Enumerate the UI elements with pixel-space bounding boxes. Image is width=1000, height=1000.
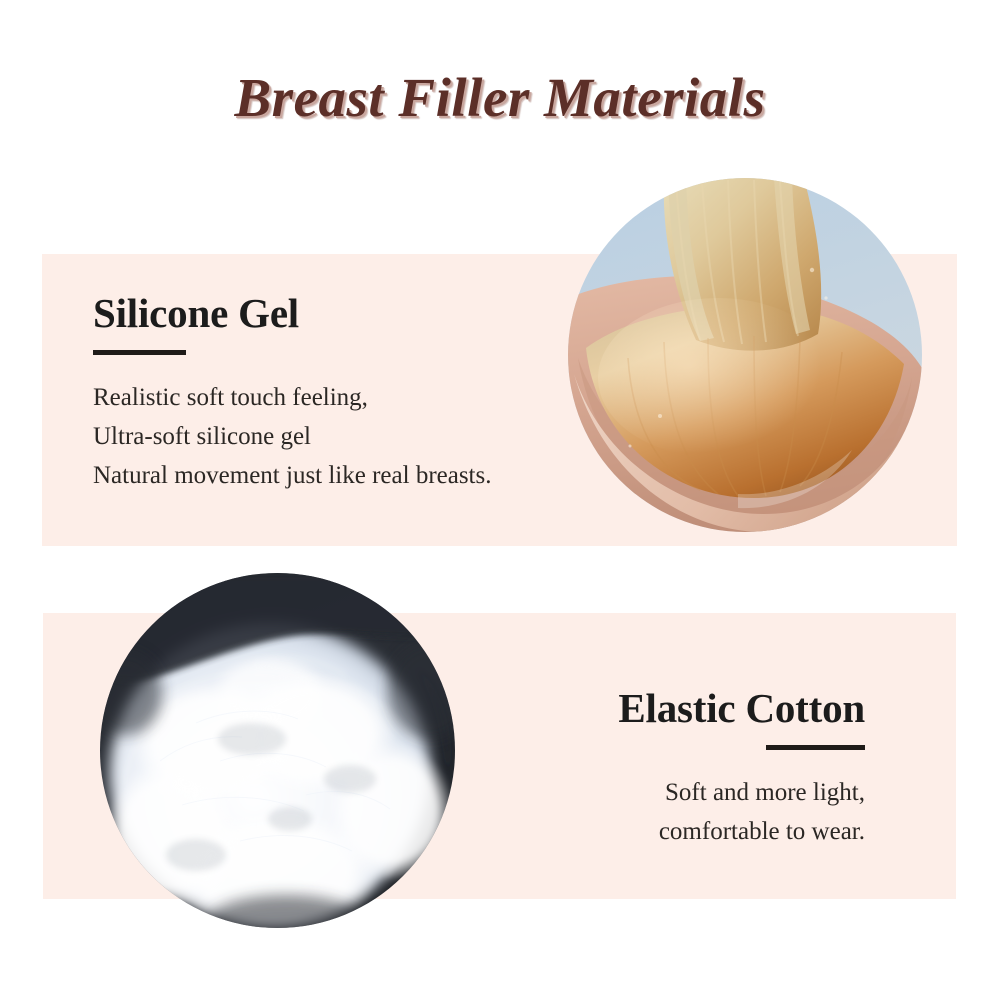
silicone-gel-description: Realistic soft touch feeling, Ultra-soft… — [93, 355, 613, 495]
elastic-cotton-description: Soft and more light, comfortable to wear… — [420, 750, 865, 852]
silicone-gel-photo — [568, 178, 922, 532]
description-line: comfortable to wear. — [420, 813, 865, 852]
elastic-cotton-heading: Elastic Cotton — [420, 687, 865, 730]
description-line: Natural movement just like real breasts. — [93, 457, 613, 496]
silicone-gel-heading: Silicone Gel — [93, 292, 613, 335]
description-line: Ultra-soft silicone gel — [93, 418, 613, 457]
elastic-cotton-photo — [100, 573, 455, 928]
elastic-cotton-text-block: Elastic Cotton Soft and more light, comf… — [420, 687, 865, 852]
silicone-gel-text-block: Silicone Gel Realistic soft touch feelin… — [93, 292, 613, 495]
infographic-page: Breast Filler Materials — [0, 0, 1000, 1000]
page-title: Breast Filler Materials — [0, 66, 1000, 129]
description-line: Realistic soft touch feeling, — [93, 379, 613, 418]
description-line: Soft and more light, — [420, 774, 865, 813]
